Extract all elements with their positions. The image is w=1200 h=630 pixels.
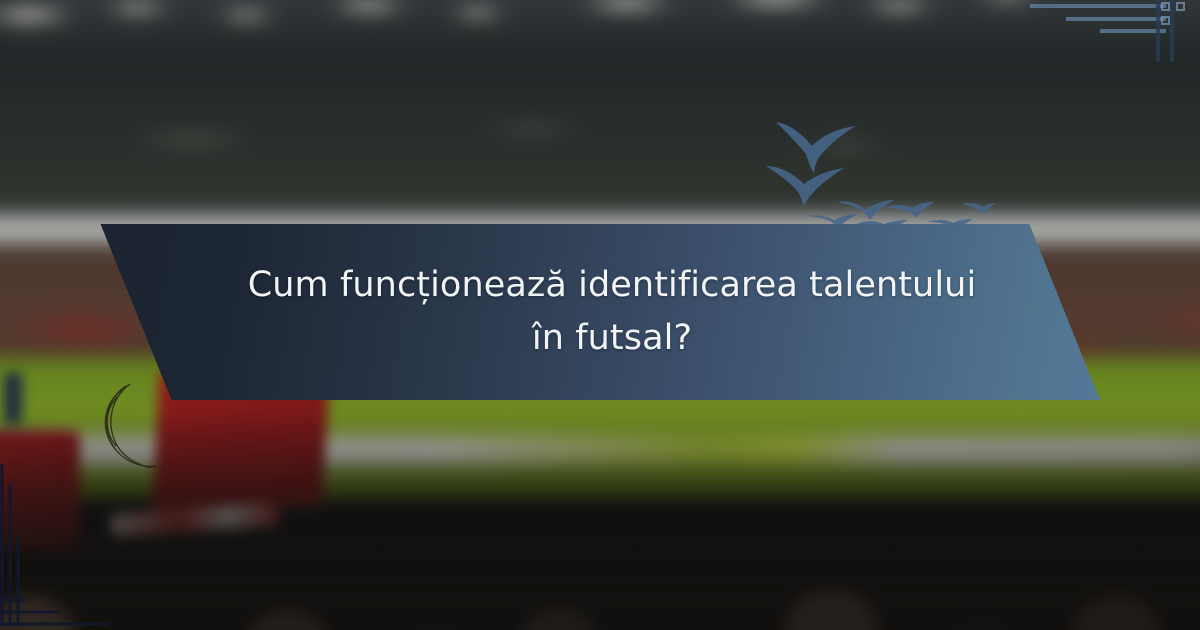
- title-banner-inner: Cum funcționează identificarea talentulu…: [205, 259, 995, 365]
- share-card: Cum funcționează identificarea talentulu…: [0, 0, 1200, 630]
- corner-line-motif-bottom-left: [0, 450, 130, 630]
- page-title: Cum funcționează identificarea talentulu…: [229, 259, 995, 365]
- corner-line-motif-top-right: [1020, 0, 1200, 70]
- title-banner: Cum funcționează identificarea talentulu…: [96, 224, 1104, 400]
- flying-birds-silhouette: [756, 104, 996, 234]
